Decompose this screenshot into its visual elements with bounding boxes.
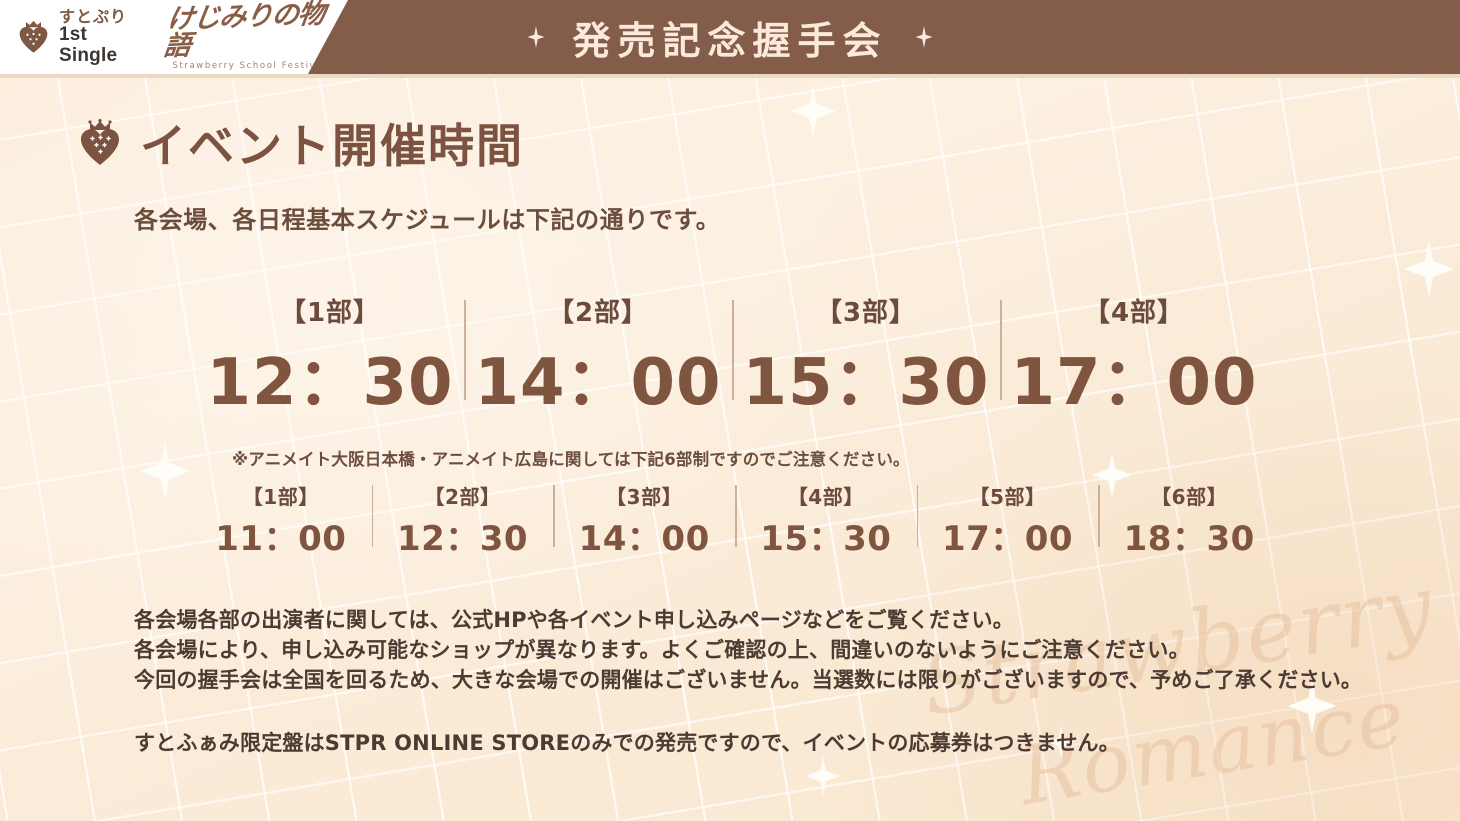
note-tail-line: すとふぁみ限定盤はSTPR ONLINE STOREのみでの発売ですので、イベン… bbox=[134, 731, 1120, 755]
schedule-cell: 【4部】 15：30 bbox=[735, 481, 917, 560]
part-label: 【1部】 bbox=[243, 481, 319, 510]
part-label: 【4部】 bbox=[1084, 292, 1184, 329]
part-time: 18：30 bbox=[1124, 511, 1255, 560]
schedule-cell: 【6部】 18：30 bbox=[1098, 481, 1280, 560]
part-time: 17：00 bbox=[1010, 331, 1257, 423]
part-label: 【5部】 bbox=[969, 481, 1045, 510]
note-line: 各会場により、申し込み可能なショップが異なります。よくご確認の上、間違いのないよ… bbox=[134, 635, 1362, 665]
schedule-cell: 【1部】 11：00 bbox=[190, 481, 372, 560]
diamond-sparkle-icon bbox=[527, 26, 544, 48]
schedule-cell: 【3部】 15：30 bbox=[732, 292, 1000, 423]
schedule-cell: 【2部】 14：00 bbox=[464, 292, 732, 423]
strawberry-crown-icon bbox=[17, 19, 50, 55]
notes-block: 各会場各部の出演者に関しては、公式HPや各イベント申し込みページなどをご覧くださ… bbox=[134, 605, 1362, 695]
note-line: 今回の握手会は全国を回るため、大きな会場での開催はございません。当選数には限りが… bbox=[134, 665, 1362, 695]
part-time: 17：00 bbox=[942, 511, 1073, 560]
main-content: イベント開催時間 各会場、各日程基本スケジュールは下記の通りです。 【1部】 1… bbox=[0, 78, 1460, 821]
logo-brand-group: すとぷり 1st Single bbox=[17, 8, 150, 66]
logo-brand-jp: すとぷり bbox=[59, 8, 150, 25]
schedule-cell: 【2部】 12：30 bbox=[372, 481, 554, 560]
part-label: 【2部】 bbox=[548, 292, 648, 329]
part-time: 15：30 bbox=[760, 511, 891, 560]
part-time: 14：00 bbox=[474, 331, 721, 423]
schedule-cell: 【3部】 14：00 bbox=[553, 481, 735, 560]
part-label: 【1部】 bbox=[280, 292, 380, 329]
part-label: 【6部】 bbox=[1151, 481, 1227, 510]
part-time: 12：30 bbox=[206, 331, 453, 423]
diamond-sparkle-icon bbox=[916, 26, 933, 48]
page-title: 発売記念握手会 bbox=[572, 10, 887, 65]
logo-banner[interactable]: すとぷり 1st Single けじみりの物語 Strawberry Schoo… bbox=[0, 0, 348, 74]
part-label: 【4部】 bbox=[788, 481, 864, 510]
schedule-secondary: 【1部】 11：00 【2部】 12：30 【3部】 14：00 【4部】 15… bbox=[190, 481, 1280, 560]
section-intro-text: 各会場、各日程基本スケジュールは下記の通りです。 bbox=[134, 200, 720, 235]
schedule-cell: 【5部】 17：00 bbox=[917, 481, 1099, 560]
schedule-primary: 【1部】 12：30 【2部】 14：00 【3部】 15：30 【4部】 17… bbox=[196, 292, 1268, 423]
part-time: 12：30 bbox=[397, 511, 528, 560]
logo-text-group: すとぷり 1st Single bbox=[59, 8, 150, 66]
schedule-cell: 【4部】 17：00 bbox=[1000, 292, 1268, 423]
strawberry-crown-icon bbox=[78, 119, 122, 167]
notes-tail-block: すとふぁみ限定盤はSTPR ONLINE STOREのみでの発売ですので、イベン… bbox=[134, 728, 1120, 758]
part-label: 【3部】 bbox=[816, 292, 916, 329]
part-time: 15：30 bbox=[742, 331, 989, 423]
part-label: 【3部】 bbox=[606, 481, 682, 510]
part-time: 14：00 bbox=[579, 511, 710, 560]
header-underline bbox=[0, 74, 1460, 78]
section-title: イベント開催時間 bbox=[140, 110, 524, 176]
section-heading: イベント開催時間 bbox=[78, 110, 524, 176]
note-line: 各会場各部の出演者に関しては、公式HPや各イベント申し込みページなどをご覧くださ… bbox=[134, 605, 1362, 635]
schedule-cell: 【1部】 12：30 bbox=[196, 292, 464, 423]
logo-brand-en: 1st Single bbox=[59, 25, 150, 66]
part-label: 【2部】 bbox=[424, 481, 500, 510]
part-time: 11：00 bbox=[215, 511, 346, 560]
schedule-note: ※アニメイト大阪日本橋・アニメイト広島に関しては下記6部制ですのでご注意ください… bbox=[232, 446, 910, 470]
